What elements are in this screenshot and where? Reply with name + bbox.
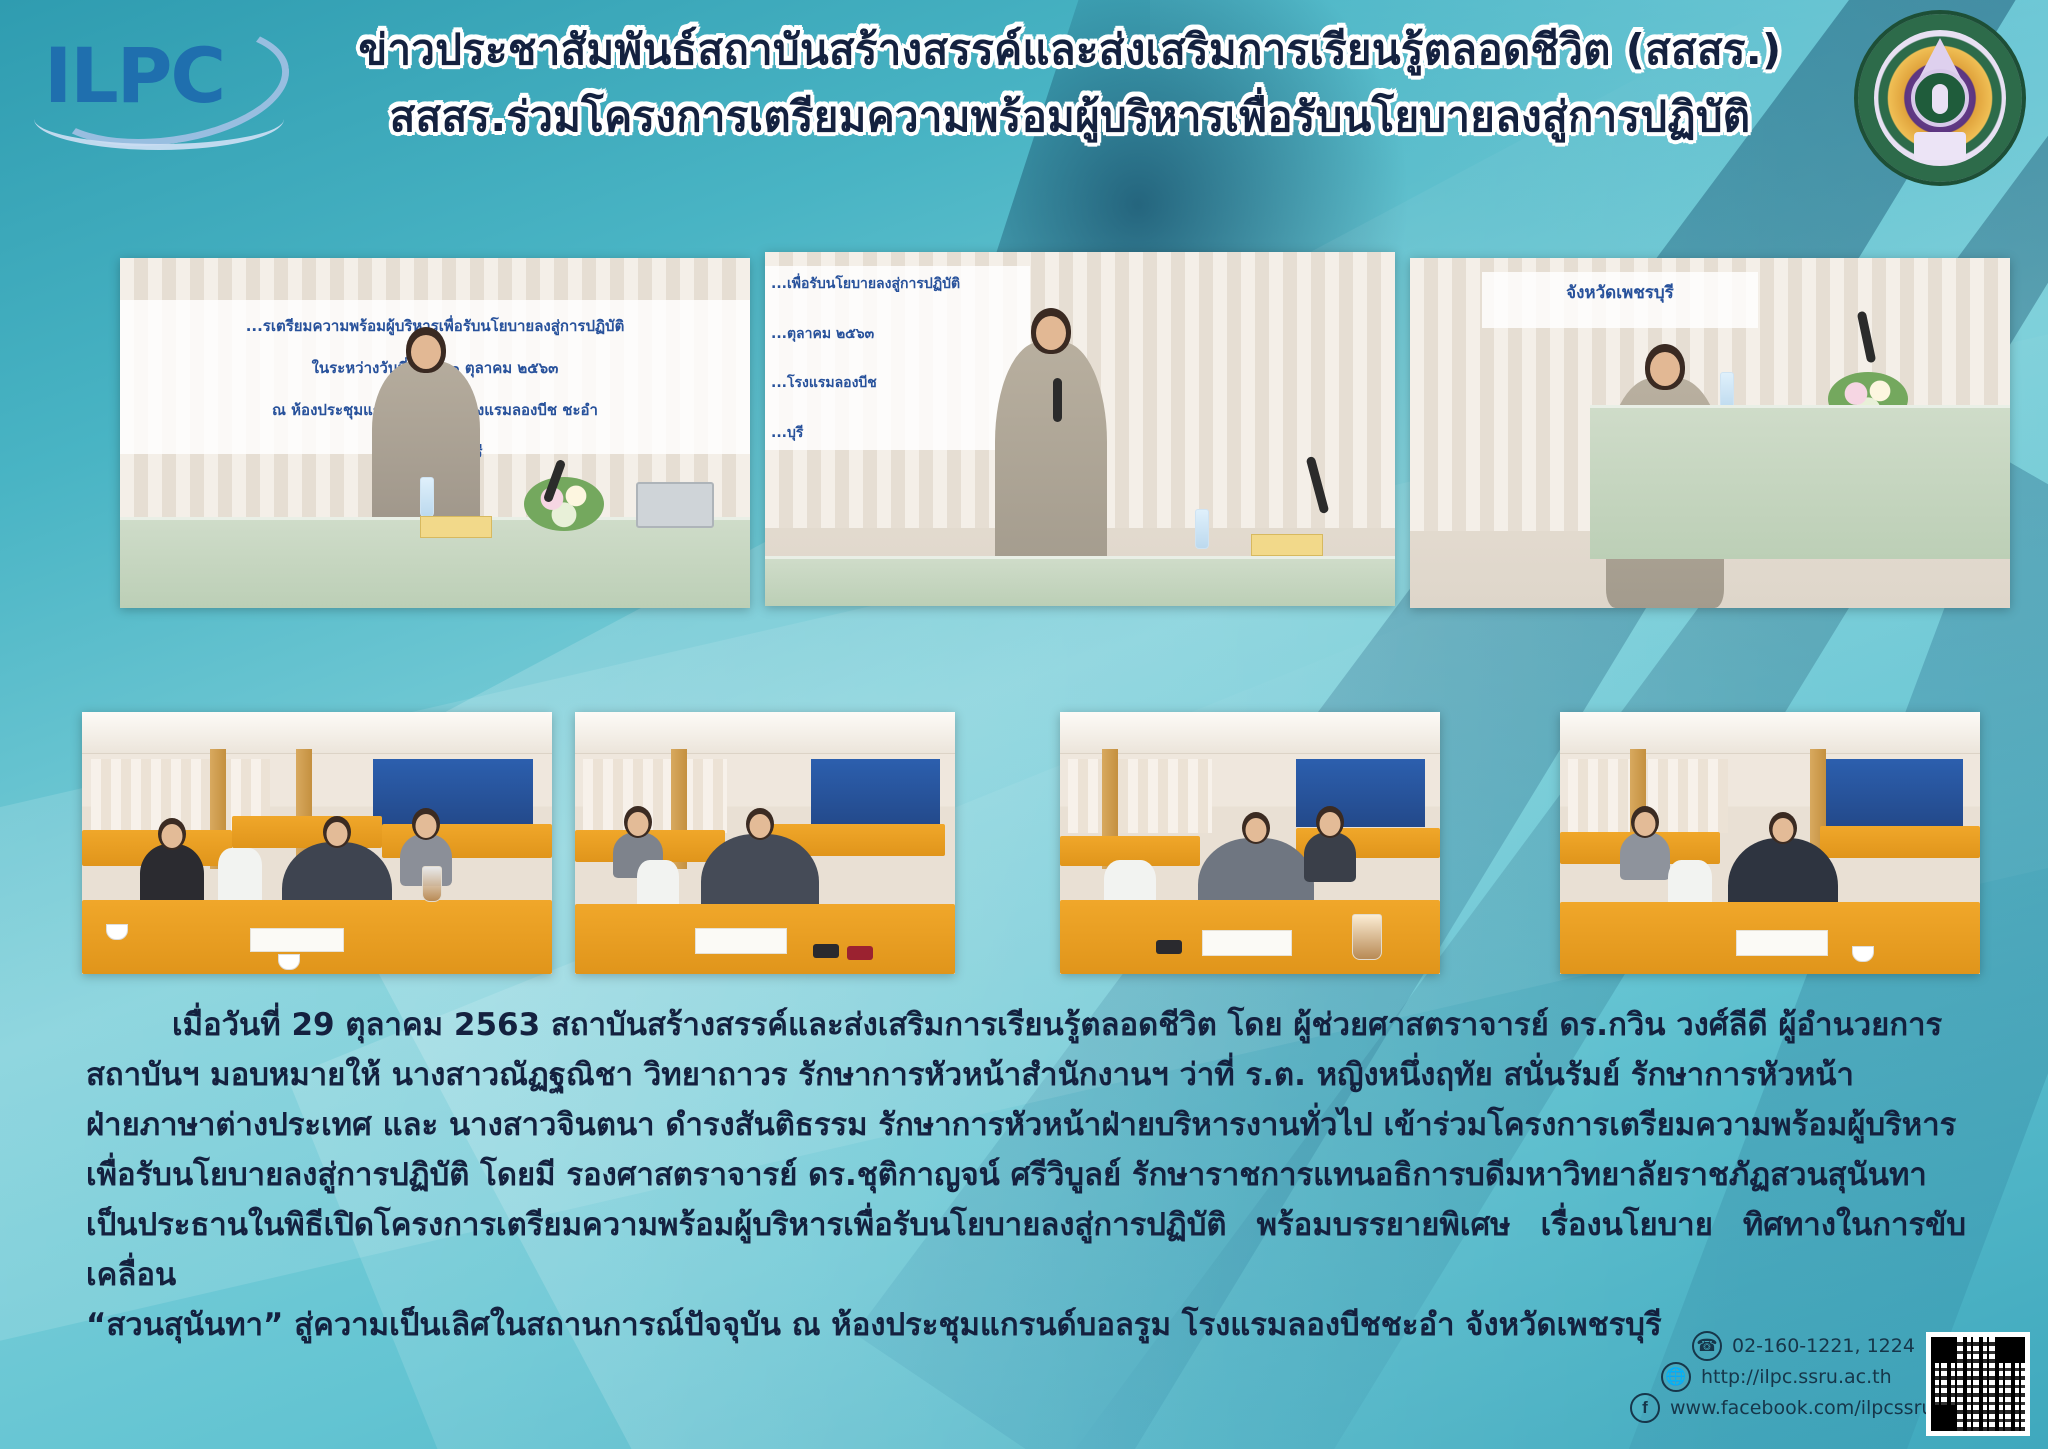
contact-phone[interactable]: ☎ 02-160-1221, 1224 (1692, 1330, 1930, 1361)
attendee (1304, 832, 1356, 882)
header-titles: ข่าวประชาสัมพันธ์สถาบันสร้างสรรค์และส่งเ… (300, 24, 1840, 143)
room-window (583, 759, 727, 832)
attendee-face (628, 812, 649, 836)
contact-website[interactable]: 🌐 http://ilpc.ssru.ac.th (1661, 1361, 1930, 1392)
room-ceiling (82, 712, 552, 754)
mobile-phone (1156, 940, 1182, 954)
mobile-phone (813, 944, 839, 958)
photo-top-2: ...เพื่อรับนโยบายลงสู่การปฏิบัติ ...ตุลา… (765, 252, 1395, 606)
photo-bottom-4-scene (1560, 712, 1980, 974)
facebook-icon: f (1630, 1393, 1660, 1423)
photo-bottom-4 (1560, 712, 1980, 974)
photo-top-3: จังหวัดเพชรบุรี (1410, 258, 2010, 608)
seal-center-emblem (1911, 69, 1969, 127)
handheld-microphone (1053, 378, 1062, 422)
attendee-face (416, 814, 437, 838)
speaker-figure (995, 342, 1107, 592)
body-line-2: สถาบันฯ มอบหมายให้ นางสาวณัฏฐณิชา วิทยาถ… (86, 1050, 1966, 1100)
attendee-face (327, 822, 348, 846)
room-ceiling (1060, 712, 1440, 754)
desk (1820, 826, 1980, 858)
body-line-5: เป็นประธานในพิธีเปิดโครงการเตรียมความพร้… (86, 1200, 1966, 1300)
notebook (250, 928, 344, 952)
speaker-face (1036, 316, 1066, 350)
body-line-1: เมื่อวันที่ 29 ตุลาคม 2563 สถาบันสร้างสร… (86, 1000, 1966, 1050)
speaker-face (1650, 352, 1680, 386)
flower-arrangement (524, 477, 604, 531)
photo-bottom-1 (82, 712, 552, 974)
room-ceiling (1560, 712, 1980, 754)
attendee-face (750, 814, 771, 838)
banner-line-1: ...เพื่อรับนโยบายลงสู่การปฏิบัติ (771, 273, 1021, 295)
water-bottle (1195, 509, 1209, 549)
pencil-case (847, 946, 873, 960)
news-body: เมื่อวันที่ 29 ตุลาคม 2563 สถาบันสร้างสร… (86, 1000, 1966, 1350)
chair (218, 848, 262, 906)
banner-line-3: ...โรงแรมลองบีช (771, 372, 1021, 394)
photo-bottom-1-scene (82, 712, 552, 974)
photo-bottom-3-scene (1060, 712, 1440, 974)
attendee-face (1773, 818, 1794, 842)
room-window (1068, 759, 1212, 832)
poster-footer: ☎ 02-160-1221, 1224 🌐 http://ilpc.ssru.a… (1630, 1330, 2030, 1442)
qr-code-pattern (1931, 1337, 2025, 1431)
poster-header: ILPC ข่าวประชาสัมพันธ์สถาบันสร้างสรรค์แล… (0, 0, 2048, 238)
photo-top-3-scene: จังหวัดเพชรบุรี (1410, 258, 2010, 608)
photo-top-2-scene: ...เพื่อรับนโยบายลงสู่การปฏิบัติ ...ตุลา… (765, 252, 1395, 606)
poster-canvas: ILPC ข่าวประชาสัมพันธ์สถาบันสร้างสรรค์แล… (0, 0, 2048, 1449)
room-blue-backdrop (1296, 759, 1425, 827)
water-bottle (420, 477, 434, 517)
banner-line-4: ...บุรี (771, 422, 1021, 444)
room-blue-backdrop (811, 759, 940, 827)
room-blue-backdrop (1820, 759, 1963, 827)
head-table-skirt (1590, 405, 2010, 559)
contact-list: ☎ 02-160-1221, 1224 🌐 http://ilpc.ssru.a… (1630, 1330, 1930, 1423)
page-title: ข่าวประชาสัมพันธ์สถาบันสร้างสรรค์และส่งเ… (300, 24, 1840, 77)
phone-icon: ☎ (1692, 1331, 1722, 1361)
ssru-university-seal-icon (1854, 10, 2026, 186)
banner-line-1: จังหวัดเพชรบุรี (1482, 279, 1758, 306)
attendee (1620, 832, 1670, 880)
attendee-face (162, 824, 183, 848)
phone-number: 02-160-1221, 1224 (1732, 1335, 1915, 1357)
iced-drink (422, 866, 442, 902)
name-plate (1251, 534, 1323, 556)
ilpc-logo-text: ILPC (44, 38, 224, 114)
banner-line-2: ...ตุลาคม ๒๕๖๓ (771, 323, 1021, 345)
attendee-face (1320, 812, 1341, 836)
seal-base (1914, 132, 1966, 160)
notebook (1202, 930, 1292, 956)
iced-drink (1352, 914, 1382, 960)
room-ceiling (575, 712, 955, 754)
desk (232, 816, 382, 848)
laptop (636, 482, 714, 528)
body-line-3: ฝ่ายภาษาต่างประเทศ และ นางสาวจินตนา ดำรง… (86, 1100, 1966, 1150)
photo-bottom-3 (1060, 712, 1440, 974)
head-table-skirt (765, 556, 1395, 606)
photo-top-1-scene: ...รเตรียมความพร้อมผู้บริหารเพื่อรับนโยบ… (120, 258, 750, 608)
photo-top-1: ...รเตรียมความพร้อมผู้บริหารเพื่อรับนโยบ… (120, 258, 750, 608)
attendee-face (1635, 812, 1656, 836)
notebook (695, 928, 787, 954)
facebook-url: www.facebook.com/ilpcssru (1670, 1397, 1933, 1419)
notebook (1736, 930, 1828, 956)
room-blue-backdrop (373, 759, 533, 827)
name-plate (420, 516, 492, 538)
body-line-4: เพื่อรับนโยบายลงสู่การปฏิบัติ โดยมี รองศ… (86, 1150, 1966, 1200)
ilpc-logo: ILPC (34, 22, 304, 142)
contact-facebook[interactable]: f www.facebook.com/ilpcssru (1630, 1392, 1930, 1423)
attendee-face (1246, 818, 1267, 842)
photo-bottom-2 (575, 712, 955, 974)
globe-icon: 🌐 (1661, 1362, 1691, 1392)
website-url: http://ilpc.ssru.ac.th (1701, 1366, 1892, 1388)
photo-bottom-2-scene (575, 712, 955, 974)
speaker-face (411, 335, 441, 369)
qr-code[interactable] (1926, 1332, 2030, 1436)
page-subtitle: สสสร.ร่วมโครงการเตรียมความพร้อมผู้บริหาร… (300, 91, 1840, 144)
